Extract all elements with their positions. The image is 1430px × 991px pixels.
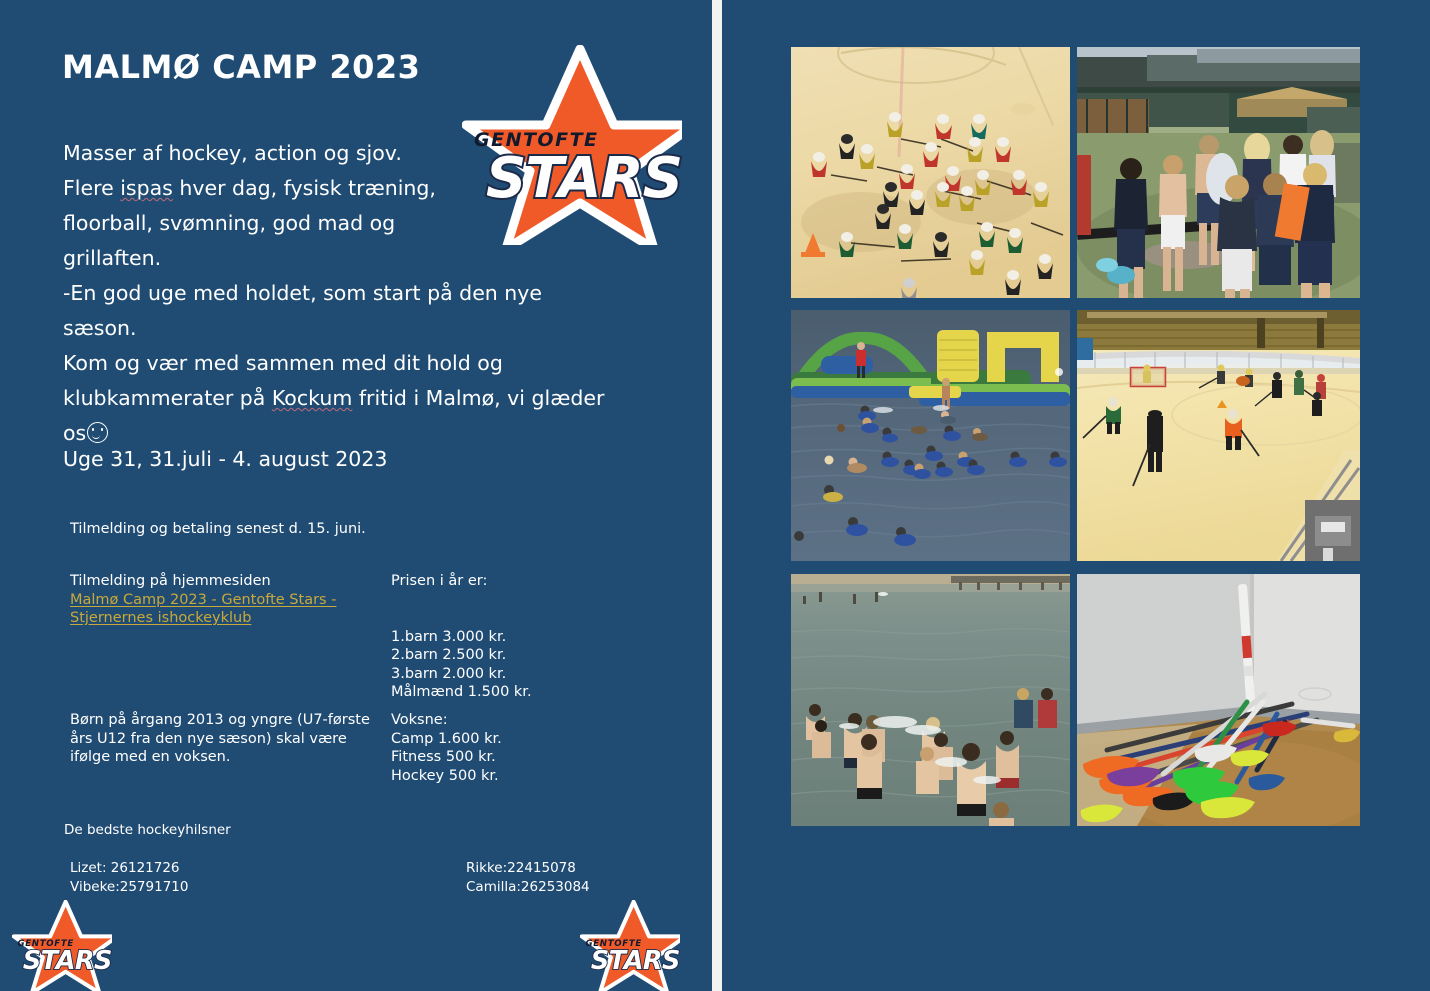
- svg-text:STARS: STARS: [591, 946, 680, 976]
- price-spacer: [391, 591, 671, 628]
- intro-line-9: os: [63, 417, 663, 450]
- price-item: 1.barn 3.000 kr.: [391, 628, 671, 647]
- contact-entry: Rikke:22415078: [466, 859, 590, 878]
- page-title: MALMØ CAMP 2023: [62, 48, 420, 86]
- photo-hockey-team-on-ice: [791, 47, 1070, 298]
- intro-line-4: grillaften.: [63, 242, 663, 275]
- signup-link-line-1[interactable]: Malmø Camp 2023 - Gentofte Stars -: [70, 592, 336, 608]
- price-item: Målmænd 1.500 kr.: [391, 683, 671, 702]
- intro-line-5: -En god uge med holdet, som start på den…: [63, 277, 663, 310]
- age-note-line: års U12 fra den nye sæson) skal være: [70, 730, 380, 749]
- panel-divider: [712, 0, 722, 991]
- svg-text:STARS: STARS: [486, 146, 682, 211]
- adult-price-item: Hockey 500 kr.: [391, 767, 671, 786]
- contact-entry: Camilla:26253084: [466, 878, 590, 897]
- contact-entry: Lizet: 26121726: [70, 859, 188, 878]
- misspelled-word-ispas: ispas: [120, 176, 173, 200]
- photo-inflatable-water-park: [791, 310, 1070, 561]
- misspelled-word-kockum: Kockum: [272, 386, 352, 410]
- adult-price-item: Fitness 500 kr.: [391, 748, 671, 767]
- smiley-face-icon: [87, 422, 108, 443]
- intro-line-6: sæson.: [63, 312, 663, 345]
- poster-page: MALMØ CAMP 2023 Masser af hockey, action…: [0, 0, 1430, 991]
- gentofte-stars-logo-footer-right: GENTOFTE STARS: [580, 900, 680, 990]
- camp-dates: Uge 31, 31.juli - 4. august 2023: [63, 447, 387, 471]
- closing-regards: De bedste hockeyhilsner: [64, 822, 231, 838]
- contact-entry: Vibeke:25791710: [70, 878, 188, 897]
- contacts-right-column: Rikke:22415078 Camilla:26253084: [466, 859, 590, 897]
- adult-price-heading: Voksne:: [391, 711, 671, 730]
- signup-link[interactable]: Malmø Camp 2023 - Gentofte Stars - Stjer…: [70, 591, 380, 628]
- gentofte-stars-logo: GENTOFTE STARS: [462, 45, 682, 245]
- photo-floorball-sticks: [1077, 574, 1360, 826]
- photo-ice-rink-training: [1077, 310, 1360, 561]
- price-item: 2.barn 2.500 kr.: [391, 646, 671, 665]
- gentofte-stars-logo-footer-left: GENTOFTE STARS: [12, 900, 112, 990]
- signup-section: Tilmelding på hjemmesiden Malmø Camp 202…: [70, 572, 380, 628]
- intro-line-7: Kom og vær med sammen med dit hold og: [63, 347, 663, 380]
- price-section: Prisen i år er: 1.barn 3.000 kr. 2.barn …: [391, 572, 671, 702]
- adult-price-section: Voksne: Camp 1.600 kr. Fitness 500 kr. H…: [391, 711, 671, 785]
- price-item: 3.barn 2.000 kr.: [391, 665, 671, 684]
- photo-beach-swimming: [791, 574, 1070, 826]
- age-requirement-note: Børn på årgang 2013 og yngre (U7-første …: [70, 711, 380, 767]
- registration-deadline: Tilmelding og betaling senest d. 15. jun…: [70, 521, 366, 537]
- signup-link-line-2[interactable]: Stjernernes ishockeyklub: [70, 610, 251, 626]
- age-note-line: ifølge med en voksen.: [70, 748, 380, 767]
- price-heading: Prisen i år er:: [391, 572, 671, 591]
- age-note-line: Børn på årgang 2013 og yngre (U7-første: [70, 711, 380, 730]
- intro-line-8: klubkammerater på Kockum fritid i Malmø,…: [63, 382, 663, 415]
- adult-price-item: Camp 1.600 kr.: [391, 730, 671, 749]
- contacts-left-column: Lizet: 26121726 Vibeke:25791710: [70, 859, 188, 897]
- photo-kids-outdoors: [1077, 47, 1360, 298]
- svg-text:STARS: STARS: [23, 946, 112, 976]
- signup-heading: Tilmelding på hjemmesiden: [70, 572, 380, 591]
